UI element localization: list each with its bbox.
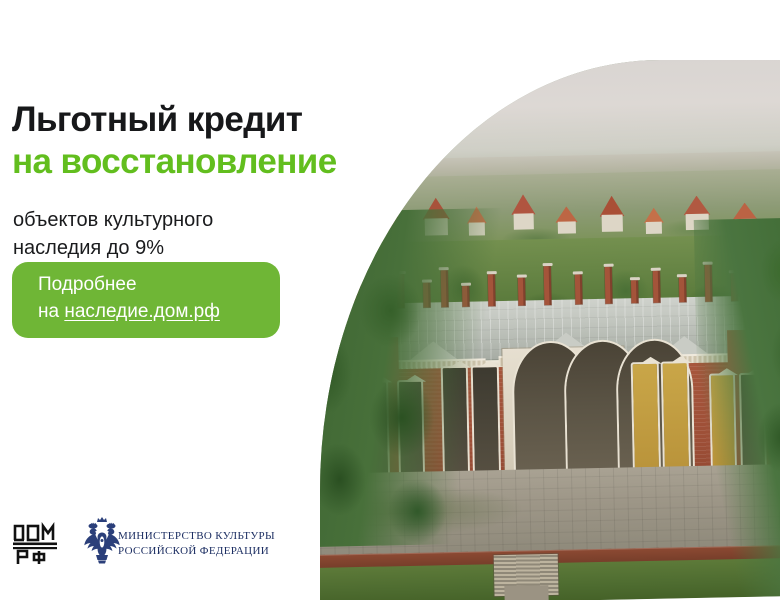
double-headed-eagle-icon (82, 516, 122, 566)
promotional-banner: Льготный кредит на восстановление объект… (0, 0, 780, 600)
chimney (679, 277, 687, 302)
content-column: Льготный кредит на восстановление объект… (0, 0, 330, 600)
cta-line-1: Подробнее (38, 274, 137, 296)
tree-mass-right (693, 217, 780, 598)
window-pediment (639, 357, 661, 364)
window-pediment (669, 356, 691, 363)
village-house (511, 194, 536, 230)
learn-more-button[interactable]: Подробнее на наследие.дом.рф (12, 262, 280, 338)
chimney (544, 266, 552, 305)
facade-window (633, 364, 659, 473)
subtitle-line-2: наследия до 9% (13, 237, 164, 259)
headline-line-1: Льготный кредит (12, 100, 302, 139)
ministry-name: МИНИСТЕРСТВО КУЛЬТУРЫ РОССИЙСКОЙ ФЕДЕРАЦ… (118, 529, 275, 558)
cta-prefix: на (38, 301, 64, 322)
garden-path (504, 585, 549, 600)
hero-photo-scene (320, 60, 780, 600)
village-house (599, 195, 624, 231)
chimney (575, 274, 583, 304)
hero-photo (320, 60, 780, 600)
footer-logos: МИНИСТЕРСТВО КУЛЬТУРЫ РОССИЙСКОЙ ФЕДЕРАЦ… (0, 510, 330, 600)
page-title: Льготный кредит на восстановление (12, 99, 342, 183)
subtitle: объектов культурного наследия до 9% (13, 206, 313, 262)
chimney (652, 271, 660, 303)
tree-mass-left (320, 208, 513, 547)
village-house (555, 206, 578, 234)
chimney (605, 267, 613, 303)
headline-line-2: на восстановление (12, 141, 342, 183)
cta-url: наследие.дом.рф (64, 301, 220, 322)
chimney (631, 280, 638, 303)
ministry-line-2: РОССИЙСКОЙ ФЕДЕРАЦИИ (118, 544, 275, 559)
ministry-line-1: МИНИСТЕРСТВО КУЛЬТУРЫ (118, 529, 275, 544)
domrf-logo[interactable] (12, 518, 58, 566)
village-house (644, 208, 664, 234)
subtitle-line-1: объектов культурного (13, 209, 213, 231)
facade-window (663, 363, 689, 472)
cta-line-2: на наследие.дом.рф (38, 301, 220, 323)
chimney (518, 278, 526, 305)
